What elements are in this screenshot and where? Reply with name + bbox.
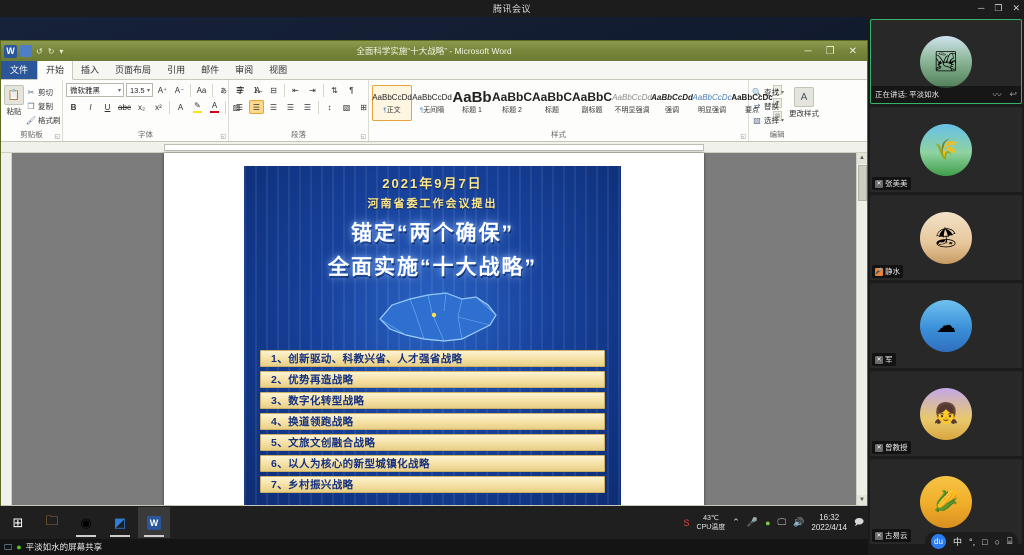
word-maximize-icon[interactable]: ❐ xyxy=(826,46,835,57)
screen-root: 腾讯会议 ─ ❐ ✕ W ↺ ↻ ▾ 全面科学实施“十大战略” - Micros… xyxy=(0,0,1024,555)
vertical-scrollbar[interactable]: ▲ ▼ xyxy=(856,153,867,506)
style-item[interactable]: AaBbCcDd 强调 xyxy=(652,85,692,121)
subscript-icon[interactable]: x₂ xyxy=(134,100,149,114)
strategy-list: 1、创新驱动、科教兴省、人才强省战略 2、优势再造战略 3、数字化转型战略 4、… xyxy=(244,350,621,493)
audio-wave-icon: 〰 xyxy=(992,88,1001,101)
text-effects-icon[interactable]: A xyxy=(173,100,188,114)
mic-muted-icon: ✕ xyxy=(875,356,883,364)
paragraph-dialog-launcher[interactable]: ◱ xyxy=(360,133,366,140)
avatar: 🌾 xyxy=(920,124,972,176)
tab-mailings[interactable]: 邮件 xyxy=(193,61,227,79)
province-map-wrap xyxy=(244,283,621,349)
style-sample: AaBbCcDd xyxy=(372,92,412,103)
slide-image[interactable]: 2021年9月7日 河南省委工作会议提出 锚定“两个确保” 全面实施“十大战略” xyxy=(244,166,621,506)
change-case-icon[interactable]: Aa xyxy=(194,83,209,97)
word-minimize-icon[interactable]: ─ xyxy=(805,46,812,57)
windows-logo-icon: ⊞ xyxy=(13,515,24,531)
list-item: 7、乡村振兴战略 xyxy=(260,476,605,493)
style-name: ¶无间隔 xyxy=(420,105,444,115)
volume-icon[interactable]: 🔊 xyxy=(793,517,804,528)
ime-fullwidth-icon[interactable]: □ xyxy=(982,537,987,547)
styles-dialog-launcher[interactable]: ◱ xyxy=(740,133,746,140)
copy-button[interactable]: ❐ 复制 xyxy=(26,100,61,112)
style-sample: AaBbC xyxy=(532,92,572,103)
clock-time: 16:32 xyxy=(811,513,847,523)
participant-label: ✕ 曾教授 xyxy=(872,441,911,454)
sogou-ime-icon[interactable]: S xyxy=(684,518,690,528)
word-document-title: 全面科学实施“十大战略” - Microsoft Word xyxy=(1,45,867,57)
active-speaker-label: 正在讲话: 平淡如水 xyxy=(875,89,939,100)
select-button[interactable]: ▧ 选择 ▾ xyxy=(752,114,784,126)
list-item: 1、创新驱动、科教兴省、人才强省战略 xyxy=(260,350,605,367)
ime-mode-chinese[interactable]: 中 xyxy=(953,535,962,548)
format-painter-label: 格式刷 xyxy=(38,115,61,126)
editing-group-label: 编辑 xyxy=(749,129,805,140)
align-right-icon[interactable]: ☰ xyxy=(266,100,281,114)
bullets-icon[interactable]: ☰ xyxy=(232,83,247,97)
list-item: 6、以人为核心的新型城镇化战略 xyxy=(260,455,605,472)
participant-name: 张美美 xyxy=(885,178,908,189)
notification-center-icon[interactable]: 🗩 xyxy=(854,515,864,531)
style-sample: AaBbCcDd xyxy=(612,92,652,103)
increase-indent-icon[interactable]: ⇥ xyxy=(305,83,320,97)
list-item: 2、优势再造战略 xyxy=(260,371,605,388)
line-spacing-icon[interactable]: ↕ xyxy=(322,100,337,114)
chevron-down-icon: ▾ xyxy=(147,87,150,94)
close-icon[interactable]: ✕ xyxy=(1012,4,1020,13)
paragraph-group-label: 段落 xyxy=(229,129,368,140)
numbering-icon[interactable]: ⒈ xyxy=(249,83,264,97)
show-hidden-icons-icon[interactable]: ⌃ xyxy=(732,517,740,528)
select-icon: ▧ xyxy=(752,115,762,125)
ribbon-group-clipboard: 📋 粘贴 ✂ 剪切 ❐ 复制 xyxy=(1,80,63,141)
customize-qat-icon[interactable]: ▾ xyxy=(58,47,64,56)
style-sample: AaBb xyxy=(452,92,491,103)
style-item[interactable]: AaBbCcDc 明显强调 xyxy=(692,85,732,121)
style-sample: AaBbCcDd xyxy=(651,92,693,103)
slide-headline-1: 锚定“两个确保” xyxy=(244,217,621,247)
meeting-app-icon: ◩ xyxy=(114,515,126,531)
taskbar-items[interactable]: ⊞ 🗀 ◉ ◩ W xyxy=(0,507,170,538)
tab-file[interactable]: 文件 xyxy=(1,61,37,79)
word-close-icon[interactable]: ✕ xyxy=(849,46,857,57)
bold-icon[interactable]: B xyxy=(66,100,81,114)
baidu-ime-logo-icon[interactable]: du xyxy=(931,534,946,549)
meeting-app-title: 腾讯会议 xyxy=(493,2,531,15)
participant-label: ✕ 古易云 xyxy=(872,529,911,542)
list-item: 4、换道领跑战略 xyxy=(260,413,605,430)
paste-button[interactable]: 📋 粘贴 xyxy=(4,83,24,117)
chrome-button[interactable]: ◉ xyxy=(70,507,102,538)
participant-tile[interactable]: 👧 ✕ 曾教授 xyxy=(870,371,1022,456)
word-titlebar: W ↺ ↻ ▾ 全面科学实施“十大战略” - Microsoft Word ─ … xyxy=(1,41,867,61)
font-size-value: 13.5 xyxy=(130,86,145,95)
minimize-icon[interactable]: ─ xyxy=(978,4,984,13)
avatar: 🏞 xyxy=(920,36,972,88)
mic-active-icon: 🎤 xyxy=(875,268,883,276)
participant-name: 静水 xyxy=(885,266,900,277)
avatar: 🌽 xyxy=(920,476,972,528)
show-marks-icon[interactable]: ¶ xyxy=(344,83,359,97)
security-icon[interactable]: ● xyxy=(765,518,770,528)
ime-floating-bar[interactable]: du 中 °, □ ○ ⌸ xyxy=(925,532,1018,551)
system-tray[interactable]: S 43℃ CPU温度 ⌃ 🎤 ● 🖵 🔊 16:32 2022/4/14 🗩 xyxy=(684,513,869,533)
style-item[interactable]: AaBbCcDd 不明显强调 xyxy=(612,85,652,121)
style-name: 标题 2 xyxy=(502,105,522,115)
share-label: 平淡如水的屏幕共享 xyxy=(26,541,103,553)
redo-icon[interactable]: ↻ xyxy=(47,47,56,56)
participant-tile[interactable]: 🏞 正在讲话: 平淡如水 〰 ↩ xyxy=(870,19,1022,104)
windows-taskbar: ⊞ 🗀 ◉ ◩ W S xyxy=(0,506,868,539)
ime-punctuation-icon[interactable]: °, xyxy=(969,537,975,547)
active-speaker-bar: 正在讲话: 平淡如水 〰 ↩ xyxy=(871,86,1021,103)
participant-tile[interactable]: 🌾 ✕ 张美美 xyxy=(870,107,1022,192)
font-name-combobox[interactable]: 微软雅黑 ▾ xyxy=(66,83,124,97)
copy-icon: ❐ xyxy=(26,101,36,111)
slide-subtitle: 河南省委工作会议提出 xyxy=(244,195,621,211)
style-item[interactable]: AaBbC 标题 xyxy=(532,85,572,121)
ribbon: 📋 粘贴 ✂ 剪切 ❐ 复制 xyxy=(1,80,867,142)
participant-label: ✕ 军 xyxy=(872,353,896,366)
font-dialog-launcher[interactable]: ◱ xyxy=(220,133,226,140)
ribbon-group-font: 微软雅黑 ▾ 13.5 ▾ A⁺ A⁻ Aa xyxy=(63,80,229,141)
scissors-icon: ✂ xyxy=(26,87,36,97)
styles-group-label: 样式 xyxy=(369,129,748,140)
copy-label: 复制 xyxy=(38,101,53,112)
participant-tile[interactable]: 🏖 🎤 静水 xyxy=(870,195,1022,280)
align-center-icon[interactable]: ☰ xyxy=(249,100,264,114)
word-window-controls[interactable]: ─ ❐ ✕ xyxy=(805,46,867,57)
style-item[interactable]: AaBb 标题 1 xyxy=(452,85,492,121)
format-painter-icon: 🖌 xyxy=(26,115,36,125)
undo-icon[interactable]: ↺ xyxy=(35,47,44,56)
file-explorer-button[interactable]: 🗀 xyxy=(36,507,68,538)
decrease-indent-icon[interactable]: ⇤ xyxy=(288,83,303,97)
ribbon-tabs[interactable]: 文件 开始 插入 页面布局 引用 邮件 审阅 视图 xyxy=(1,61,867,80)
style-item[interactable]: AaBbCcDd ¶无间隔 xyxy=(412,85,452,121)
chrome-icon: ◉ xyxy=(80,515,91,531)
list-item: 5、文旅文创融合战略 xyxy=(260,434,605,451)
meeting-app-button[interactable]: ◩ xyxy=(104,507,136,538)
cpu-temp-value: 43℃ xyxy=(697,514,726,523)
font-name-value: 微软雅黑 xyxy=(70,85,100,96)
microphone-icon[interactable]: 🎤 xyxy=(747,517,758,528)
distribute-icon[interactable]: ☰ xyxy=(300,100,315,114)
style-sample: AaBbCcDc xyxy=(692,92,731,103)
justify-icon[interactable]: ☰ xyxy=(283,100,298,114)
document-page[interactable]: 2021年9月7日 河南省委工作会议提出 锚定“两个确保” 全面实施“十大战略” xyxy=(164,153,704,506)
document-area[interactable]: 2021年9月7日 河南省委工作会议提出 锚定“两个确保” 全面实施“十大战略” xyxy=(1,142,867,506)
maximize-icon[interactable]: ❐ xyxy=(994,4,1002,13)
ime-toolbox-icon[interactable]: ⌸ xyxy=(1007,536,1012,547)
find-label: 查找 xyxy=(764,87,779,98)
quick-access-toolbar[interactable]: W ↺ ↻ ▾ xyxy=(1,45,64,58)
paste-icon: 📋 xyxy=(4,85,24,105)
start-button[interactable]: ⊞ xyxy=(2,507,34,538)
style-name: 标题 1 xyxy=(462,105,482,115)
style-sample: AaBbCcDd xyxy=(412,92,452,103)
style-sample: AaBbC xyxy=(492,92,532,103)
ribbon-group-styles: AaBbCcDd ¶正文 AaBbCcDd ¶无间隔 AaBb 标题 1 xyxy=(369,80,749,141)
format-painter-button[interactable]: 🖌 格式刷 xyxy=(26,114,61,126)
ime-user-icon[interactable]: ○ xyxy=(995,537,1000,547)
tab-insert[interactable]: 插入 xyxy=(73,61,107,79)
cut-label: 剪切 xyxy=(38,87,53,98)
meeting-window-controls[interactable]: ─ ❐ ✕ xyxy=(978,0,1020,17)
chevron-down-icon: ▾ xyxy=(118,87,121,94)
word-icon: W xyxy=(147,516,161,530)
highlight-color-icon[interactable]: ✎ xyxy=(190,100,205,114)
underline-icon[interactable]: U xyxy=(100,100,115,114)
strikethrough-icon[interactable]: abc xyxy=(117,100,132,114)
reply-icon[interactable]: ↩ xyxy=(1009,89,1017,100)
participant-rail[interactable]: 🏞 正在讲话: 平淡如水 〰 ↩ 🌾 ✕ 张美美 🏖 🎤 静水 xyxy=(868,17,1024,555)
scroll-up-icon[interactable]: ▲ xyxy=(857,153,868,164)
tab-page-layout[interactable]: 页面布局 xyxy=(107,61,159,79)
tab-home[interactable]: 开始 xyxy=(37,60,73,80)
cut-button[interactable]: ✂ 剪切 xyxy=(26,86,61,98)
find-icon: 🔍 xyxy=(752,87,762,97)
align-left-icon[interactable]: ☰ xyxy=(232,100,247,114)
mic-muted-icon: ✕ xyxy=(875,532,883,540)
find-button[interactable]: 🔍 查找 ▾ xyxy=(752,86,784,98)
clock-date: 2022/4/14 xyxy=(811,523,847,533)
replace-label: 替换 xyxy=(764,101,779,112)
style-name: 副标题 xyxy=(582,105,603,115)
slide-headline-2: 全面实施“十大战略” xyxy=(244,251,621,281)
tab-references[interactable]: 引用 xyxy=(159,61,193,79)
screen-share-bar: 🖵 ● 平淡如水的屏幕共享 xyxy=(0,539,868,555)
mic-muted-icon: ✕ xyxy=(875,444,883,452)
replace-button[interactable]: ⇄ 替换 xyxy=(752,100,784,112)
cpu-temp-label: CPU温度 xyxy=(697,523,726,532)
vertical-ruler[interactable] xyxy=(1,153,12,506)
select-label: 选择 xyxy=(764,115,779,126)
meeting-titlebar: 腾讯会议 ─ ❐ ✕ xyxy=(0,0,1024,17)
folder-icon: 🗀 xyxy=(45,512,58,534)
sort-icon[interactable]: ⇅ xyxy=(327,83,342,97)
grow-font-icon[interactable]: A⁺ xyxy=(155,83,170,97)
tab-review[interactable]: 审阅 xyxy=(227,61,261,79)
participant-label: 🎤 静水 xyxy=(872,265,903,278)
cpu-temperature-widget[interactable]: 43℃ CPU温度 xyxy=(697,514,726,532)
list-item: 3、数字化转型战略 xyxy=(260,392,605,409)
style-name: ¶正文 xyxy=(383,105,400,115)
style-name: 不明显强调 xyxy=(615,105,650,115)
word-window: W ↺ ↻ ▾ 全面科学实施“十大战略” - Microsoft Word ─ … xyxy=(0,40,868,522)
tile-actions[interactable]: 〰 ↩ xyxy=(992,88,1017,101)
henan-map-icon xyxy=(358,289,508,345)
avatar: 👧 xyxy=(920,388,972,440)
shrink-font-icon[interactable]: A⁻ xyxy=(172,83,187,97)
style-name: 强调 xyxy=(665,105,679,115)
participant-label: ✕ 张美美 xyxy=(872,177,911,190)
slide-date: 2021年9月7日 xyxy=(244,173,621,192)
save-icon[interactable] xyxy=(20,45,32,57)
style-item[interactable]: AaBbCcDd ¶正文 xyxy=(372,85,412,121)
word-taskbar-button[interactable]: W xyxy=(138,507,170,538)
scrollbar-thumb[interactable] xyxy=(858,165,867,201)
font-group-label: 字体 xyxy=(63,129,228,140)
participant-tile[interactable]: ☁ ✕ 军 xyxy=(870,283,1022,368)
clock-widget[interactable]: 16:32 2022/4/14 xyxy=(811,513,847,533)
tab-view[interactable]: 视图 xyxy=(261,61,295,79)
horizontal-ruler[interactable] xyxy=(1,142,867,153)
font-size-combobox[interactable]: 13.5 ▾ xyxy=(126,83,153,97)
style-name: 标题 xyxy=(545,105,559,115)
mic-muted-icon: ✕ xyxy=(875,180,883,188)
italic-icon[interactable]: I xyxy=(83,100,98,114)
style-sample: AaBbC xyxy=(572,92,612,103)
shared-screen-region: W ↺ ↻ ▾ 全面科学实施“十大战略” - Microsoft Word ─ … xyxy=(0,17,868,555)
style-item[interactable]: AaBbC 副标题 xyxy=(572,85,612,121)
participant-name: 军 xyxy=(885,354,893,365)
participant-name: 曾教授 xyxy=(885,442,908,453)
replace-icon: ⇄ xyxy=(752,101,762,111)
network-icon[interactable]: 🖵 xyxy=(778,517,787,528)
font-color-icon[interactable]: A xyxy=(207,100,222,114)
word-logo-icon: W xyxy=(4,45,17,58)
clipboard-dialog-launcher[interactable]: ◱ xyxy=(54,133,60,140)
style-item[interactable]: AaBbC 标题 2 xyxy=(492,85,532,121)
ribbon-group-editing: 🔍 查找 ▾ ⇄ 替换 ▧ 选择 ▾ xyxy=(749,80,805,141)
ribbon-group-paragraph: ☰ ⒈ ⊟ ⇤ ⇥ ⇅ ¶ ☰ ☰ xyxy=(229,80,369,141)
multilevel-list-icon[interactable]: ⊟ xyxy=(266,83,281,97)
clipboard-group-label: 剪贴板 xyxy=(1,129,62,140)
avatar: ☁ xyxy=(920,300,972,352)
paste-label: 粘贴 xyxy=(7,106,22,117)
style-name: 明显强调 xyxy=(698,105,726,115)
share-active-icon: ● xyxy=(16,542,21,552)
superscript-icon[interactable]: x² xyxy=(151,100,166,114)
shading-icon[interactable]: ▧ xyxy=(339,100,354,114)
share-screen-icon: 🖵 xyxy=(4,542,12,553)
avatar: 🏖 xyxy=(920,212,972,264)
participant-name: 古易云 xyxy=(885,530,908,541)
